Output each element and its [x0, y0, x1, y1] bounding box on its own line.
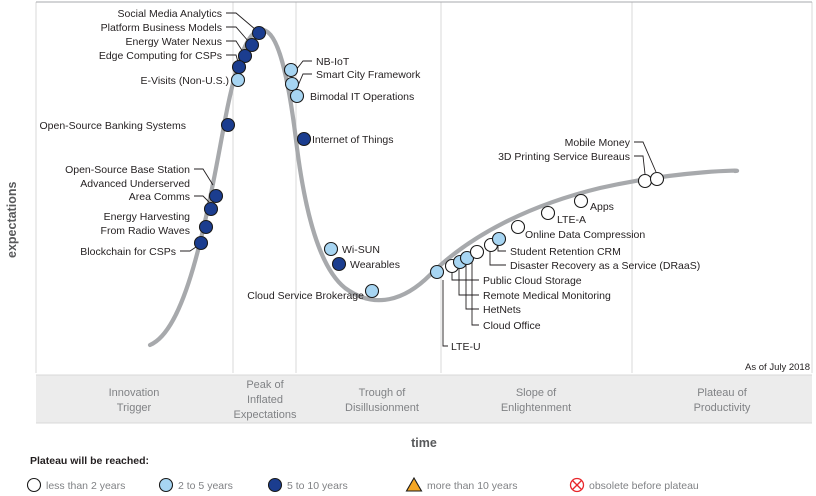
point-label-advanced-underserved-area-comms-l1: Advanced Underserved [80, 178, 190, 190]
point-label-advanced-underserved-area-comms-l2: Area Comms [129, 191, 190, 203]
data-point-blockchain-for-csps[interactable] [195, 237, 208, 250]
data-point-edge-computing-for-csps[interactable] [233, 61, 246, 74]
data-point-advanced-underserved-area-comms[interactable] [205, 203, 218, 216]
point-label-mobile-money: Mobile Money [565, 137, 631, 149]
phase-band: Innovation Trigger Peak of Inflated Expe… [36, 375, 812, 423]
point-label-open-source-banking-systems: Open-Source Banking Systems [40, 120, 187, 132]
legend-title: Plateau will be reached: [30, 455, 149, 467]
point-label-blockchain-for-csps: Blockchain for CSPs [80, 246, 176, 258]
point-label-energy-harvesting-l2: From Radio Waves [101, 225, 190, 237]
legend-label-more-than-10-years: more than 10 years [427, 480, 517, 492]
hype-cycle-chart: expectations Social Media Analytics Plat… [0, 0, 816, 496]
phase-label-slope-l1: Slope of [516, 387, 557, 399]
phase-label-peak-l2: Inflated [247, 394, 283, 406]
point-label-hetnets: HetNets [483, 304, 521, 316]
triangle-icon [407, 478, 422, 491]
data-point-nb-iot[interactable] [285, 64, 298, 77]
point-label-wi-sun: Wi-SUN [342, 244, 380, 256]
point-label-edge-computing-for-csps: Edge Computing for CSPs [99, 50, 222, 62]
point-label-social-media-analytics: Social Media Analytics [118, 8, 222, 20]
legend-label-less-than-2-years: less than 2 years [46, 480, 125, 492]
legend-marker-5-to-10-years [269, 479, 282, 492]
x-axis-title: time [411, 436, 437, 450]
data-point-social-media-analytics[interactable] [253, 27, 266, 40]
phase-label-trough-l2: Disillusionment [345, 402, 419, 414]
legend-label-obsolete-before-plateau: obsolete before plateau [589, 480, 699, 492]
point-label-energy-water-nexus: Energy Water Nexus [126, 36, 222, 48]
point-label-disaster-recovery-draas: Disaster Recovery as a Service (DRaaS) [510, 260, 700, 272]
legend-marker-less-than-2-years [28, 479, 41, 492]
phase-label-innovation-trigger-l2: Trigger [117, 402, 152, 414]
point-label-apps: Apps [590, 201, 614, 213]
point-label-e-visits-non-us: E-Visits (Non-U.S.) [141, 75, 230, 87]
phase-label-innovation-trigger-l1: Innovation [109, 387, 160, 399]
data-point-open-source-banking-systems[interactable] [222, 119, 235, 132]
phase-label-slope-l2: Enlightenment [501, 402, 571, 414]
crossed-circle-icon [571, 479, 584, 492]
data-point-energy-harvesting-from-radio-waves[interactable] [200, 221, 213, 234]
point-label-3d-printing-service-bureaus: 3D Printing Service Bureaus [498, 151, 630, 163]
legend: Plateau will be reached: less than 2 yea… [28, 455, 699, 492]
legend-label-2-to-5-years: 2 to 5 years [178, 480, 233, 492]
data-point-e-visits-non-us[interactable] [232, 74, 245, 87]
data-point-wi-sun[interactable] [325, 243, 338, 256]
data-point-online-data-compression[interactable] [512, 221, 525, 234]
point-label-nb-iot: NB-IoT [316, 56, 350, 68]
point-label-platform-business-models: Platform Business Models [101, 22, 222, 34]
point-label-bimodal-it-operations: Bimodal IT Operations [310, 91, 414, 103]
data-point-mobile-money[interactable] [651, 173, 664, 186]
point-label-smart-city-framework: Smart City Framework [316, 69, 421, 81]
point-label-cloud-service-brokerage: Cloud Service Brokerage [247, 290, 364, 302]
data-point-3d-printing-service-bureaus[interactable] [639, 175, 652, 188]
point-label-energy-harvesting-l1: Energy Harvesting [104, 211, 191, 223]
data-point-lte-u[interactable] [431, 266, 444, 279]
data-point-smart-city-framework[interactable] [286, 78, 299, 91]
data-point-bimodal-it-operations[interactable] [291, 90, 304, 103]
plateau-leaders [634, 142, 656, 174]
data-point-lte-a[interactable] [542, 207, 555, 220]
point-label-lte-a: LTE-A [557, 214, 586, 226]
phase-label-trough-l1: Trough of [359, 387, 407, 399]
point-label-student-retention-crm: Student Retention CRM [510, 246, 621, 258]
point-label-public-cloud-storage: Public Cloud Storage [483, 275, 582, 287]
legend-label-5-to-10-years: 5 to 10 years [287, 480, 348, 492]
phase-label-plateau-l2: Productivity [694, 402, 751, 414]
data-point-internet-of-things[interactable] [298, 133, 311, 146]
phase-label-peak-l1: Peak of [246, 379, 284, 391]
as-of-date: As of July 2018 [745, 362, 810, 373]
point-label-cloud-office: Cloud Office [483, 320, 541, 332]
data-point-apps[interactable] [575, 195, 588, 208]
data-point-cloud-service-brokerage[interactable] [366, 285, 379, 298]
data-point-open-source-base-station[interactable] [210, 190, 223, 203]
data-point-student-retention-crm[interactable] [493, 233, 506, 246]
phase-label-plateau-l1: Plateau of [697, 387, 747, 399]
point-label-remote-medical-monitoring: Remote Medical Monitoring [483, 290, 611, 302]
y-axis-title: expectations [5, 182, 19, 258]
point-label-lte-u: LTE-U [451, 341, 481, 353]
data-point-wearables[interactable] [333, 258, 346, 271]
legend-marker-2-to-5-years [160, 479, 173, 492]
point-label-open-source-base-station: Open-Source Base Station [65, 164, 190, 176]
point-label-wearables: Wearables [350, 259, 400, 271]
phase-label-peak-l3: Expectations [234, 409, 297, 421]
point-label-online-data-compression: Online Data Compression [525, 229, 645, 241]
data-point-public-cloud-storage[interactable] [471, 246, 484, 259]
point-label-internet-of-things: Internet of Things [312, 134, 394, 146]
